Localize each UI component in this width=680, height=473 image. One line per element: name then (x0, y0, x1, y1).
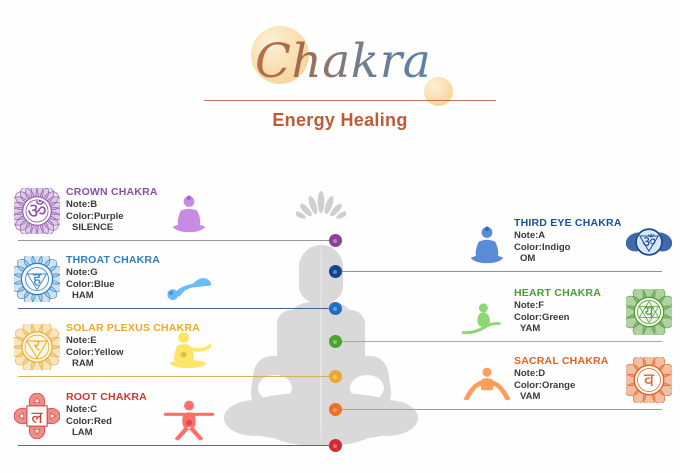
chakra-text-group: SOLAR PLEXUS CHAKRANote:EColor:YellowRAM (66, 322, 200, 371)
chakra-mantra: OM (514, 253, 622, 266)
chakra-mantra: RAM (66, 358, 200, 371)
lotus-icon (296, 190, 346, 224)
chakra-mantra: YAM (514, 323, 601, 336)
chakra-note: Note:F (514, 300, 601, 312)
chakra-point-indigo[interactable] (329, 265, 342, 278)
chakra-title: SACRAL CHAKRA (514, 355, 609, 368)
chakra-text-group: SACRAL CHAKRANote:DColor:OrangeVAM (514, 355, 609, 404)
bridge-pose-icon (460, 363, 514, 410)
chakra-mantra: SILENCE (66, 222, 158, 235)
heart-mandala-icon: य (626, 289, 672, 340)
chakra-title: SOLAR PLEXUS CHAKRA (66, 322, 200, 335)
chakra-color: Color:Green (514, 312, 601, 324)
third-eye-mandala-icon: ॐ (626, 219, 672, 270)
seated-meditation-pose-icon (460, 225, 514, 272)
chakra-color: Color:Purple (66, 211, 158, 223)
chakra-text-group: ROOT CHAKRANote:CColor:RedLAM (66, 391, 147, 440)
throat-mandala-icon: ह (14, 256, 60, 307)
chakra-note: Note:E (66, 335, 200, 347)
chakra-title: THIRD EYE CHAKRA (514, 217, 622, 230)
cobra-pose-icon (460, 295, 514, 342)
header: Chakra Energy Healing (0, 0, 680, 145)
chakra-color: Color:Red (66, 416, 147, 428)
title-divider (204, 100, 496, 101)
crown-mandala-icon: ॐ (14, 188, 60, 239)
chakra-note: Note:B (66, 199, 158, 211)
svg-text:र: र (34, 336, 41, 355)
svg-text:ह: ह (33, 269, 42, 288)
chakra-text-group: CROWN CHAKRANote:BColor:PurpleSILENCE (66, 186, 158, 235)
page-title: Chakra (255, 34, 475, 89)
chakra-title: THROAT CHAKRA (66, 254, 160, 267)
svg-text:व: व (644, 370, 655, 391)
chakra-text-group: HEART CHAKRANote:FColor:GreenYAM (514, 287, 601, 336)
chakra-note: Note:A (514, 230, 622, 242)
energy-spine-line (320, 236, 322, 448)
chakra-note: Note:C (66, 404, 147, 416)
chakra-color: Color:Blue (66, 279, 160, 291)
chakra-point-green[interactable] (329, 335, 342, 348)
svg-text:ल: ल (31, 408, 43, 427)
fish-pose-icon (162, 262, 216, 309)
chakra-point-red[interactable] (329, 439, 342, 452)
chakra-title: HEART CHAKRA (514, 287, 601, 300)
chakra-mantra: LAM (66, 427, 147, 440)
sacral-mandala-icon: व (626, 357, 672, 408)
chakra-mantra: VAM (514, 391, 609, 404)
chakra-color: Color:Orange (514, 380, 609, 392)
svg-text:ॐ: ॐ (27, 198, 46, 223)
root-mandala-icon: ल (14, 393, 60, 444)
chakra-point-purple[interactable] (329, 234, 342, 247)
page-subtitle: Energy Healing (0, 110, 680, 131)
chakra-title: ROOT CHAKRA (66, 391, 147, 404)
warrior-pose-icon (162, 399, 216, 446)
chakra-infographic: Chakra Energy Healing (0, 0, 680, 473)
chakra-point-yellow[interactable] (329, 370, 342, 383)
chakra-text-group: THROAT CHAKRANote:GColor:BlueHAM (66, 254, 160, 303)
chakra-point-blue[interactable] (329, 302, 342, 315)
svg-text:ॐ: ॐ (642, 232, 656, 251)
solar-plexus-mandala-icon: र (14, 324, 60, 375)
chakra-color: Color:Yellow (66, 347, 200, 359)
chakra-note: Note:G (66, 267, 160, 279)
seated-meditation-pose-icon (162, 194, 216, 241)
svg-text:य: य (644, 302, 654, 321)
chakra-color: Color:Indigo (514, 242, 622, 254)
chakra-note: Note:D (514, 368, 609, 380)
chakra-text-group: THIRD EYE CHAKRANote:AColor:IndigoOM (514, 217, 622, 266)
chakra-point-orange[interactable] (329, 403, 342, 416)
chakra-title: CROWN CHAKRA (66, 186, 158, 199)
chakra-mantra: HAM (66, 290, 160, 303)
